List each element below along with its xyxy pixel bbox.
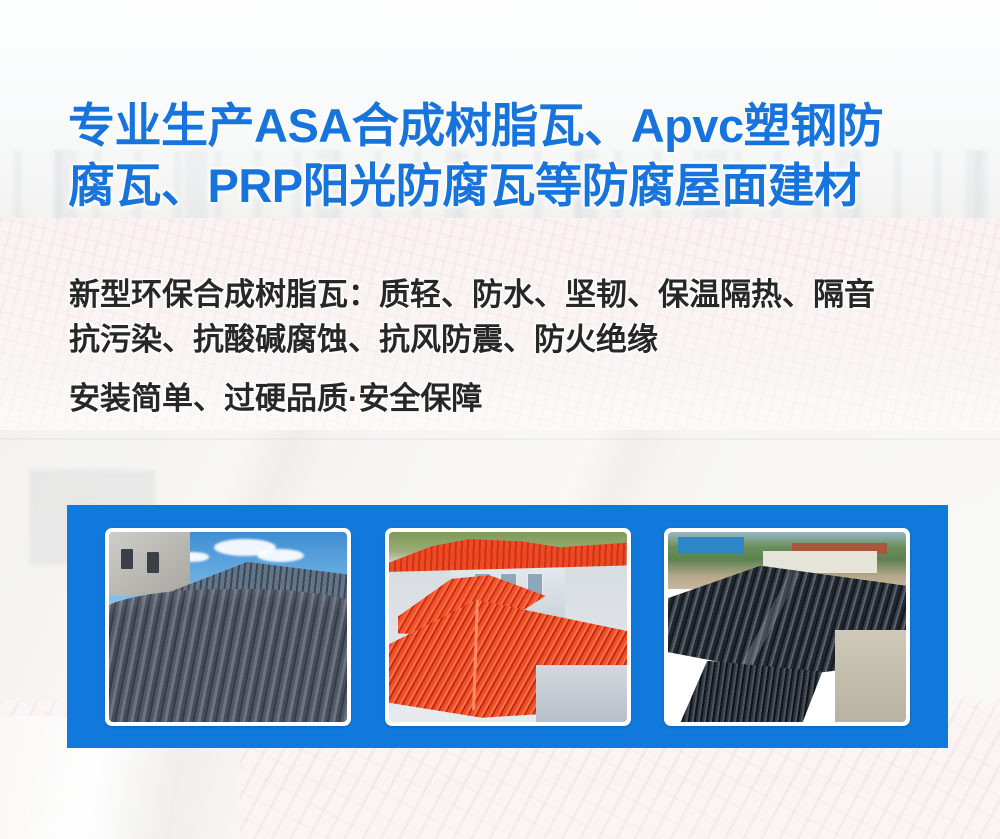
feature-line-1: 新型环保合成树脂瓦：质轻、防水、坚韧、保温隔热、隔音 — [69, 272, 969, 317]
headline-line-2: 腐瓦、PRP阳光防腐瓦等防腐屋面建材 — [68, 156, 948, 216]
photo2-lower-wall — [536, 665, 626, 722]
headline-line-1: 专业生产ASA合成树脂瓦、Apvc塑钢防 — [68, 96, 948, 156]
photo-gallery-panel — [67, 505, 948, 748]
photo-frame-2[interactable] — [385, 528, 631, 726]
feature-text-block: 新型环保合成树脂瓦：质轻、防水、坚韧、保温隔热、隔音 抗污染、抗酸碱腐蚀、抗风防… — [69, 272, 969, 421]
photo-frame-1[interactable] — [105, 528, 351, 726]
photo1-window-a — [121, 549, 133, 570]
photo1-window-b — [147, 552, 159, 573]
photo3-blue-roof-house — [678, 537, 745, 554]
photo3-ground — [835, 630, 906, 721]
product-banner: 专业生产ASA合成树脂瓦、Apvc塑钢防 腐瓦、PRP阳光防腐瓦等防腐屋面建材 … — [0, 0, 1000, 839]
page-title: 专业生产ASA合成树脂瓦、Apvc塑钢防 腐瓦、PRP阳光防腐瓦等防腐屋面建材 — [68, 96, 948, 216]
feature-line-3: 安装简单、过硬品质·安全保障 — [69, 376, 969, 421]
black-resin-tile-roof-photo — [668, 532, 906, 722]
feature-line-2: 抗污染、抗酸碱腐蚀、抗风防震、防火绝缘 — [69, 317, 969, 362]
red-resin-tile-roof-photo — [389, 532, 627, 722]
gray-resin-tile-roof-photo — [109, 532, 347, 722]
photo1-main-tile-roof — [109, 589, 347, 722]
photo1-cloud-b — [257, 549, 305, 562]
photo-frame-3[interactable] — [664, 528, 910, 726]
